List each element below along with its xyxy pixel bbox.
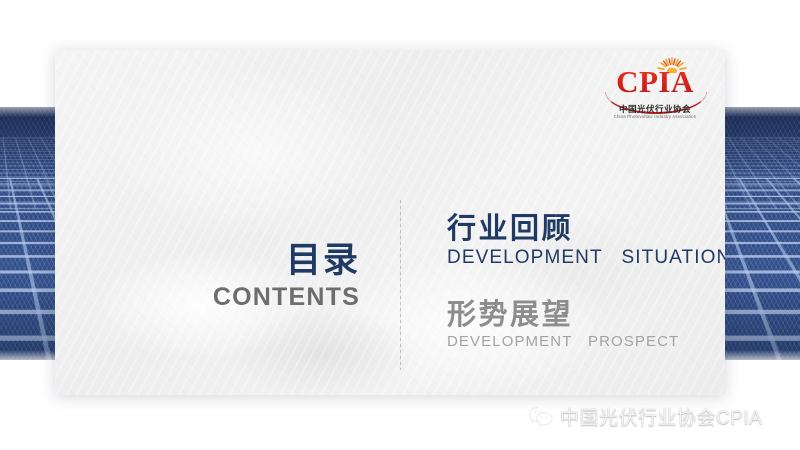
contents-title-en: CONTENTS xyxy=(155,283,360,311)
content-card: CPIA 中国光伏行业协会 China Photovoltaic Industr… xyxy=(55,50,725,395)
agenda-item-title-cn: 形势展望 xyxy=(447,296,725,332)
contents-title-cn: 目录 xyxy=(155,240,360,282)
wechat-icon xyxy=(528,406,554,428)
slide-canvas: CPIA 中国光伏行业协会 China Photovoltaic Industr… xyxy=(0,0,800,450)
agenda-item-title-en: DEVELOPMENT SITUATION xyxy=(447,246,725,270)
agenda-list: 行业回顾 DEVELOPMENT SITUATION 形势展望 DEVELOPM… xyxy=(447,210,725,378)
vertical-divider xyxy=(400,200,401,370)
cpia-english-name: China Photovoltaic Industry Association xyxy=(603,114,707,119)
agenda-item-title-cn: 行业回顾 xyxy=(447,210,725,246)
cpia-logo: CPIA 中国光伏行业协会 China Photovoltaic Industr… xyxy=(603,56,707,126)
watermark-text: 中国光伏行业协会CPIA xyxy=(560,403,762,430)
wechat-watermark: 中国光伏行业协会CPIA xyxy=(528,403,762,430)
contents-heading: 目录 CONTENTS xyxy=(155,240,360,311)
agenda-item-development-prospect[interactable]: 形势展望 DEVELOPMENT PROSPECT xyxy=(447,296,725,352)
agenda-item-title-en: DEVELOPMENT PROSPECT xyxy=(447,332,725,352)
agenda-item-development-situation[interactable]: 行业回顾 DEVELOPMENT SITUATION xyxy=(447,210,725,270)
